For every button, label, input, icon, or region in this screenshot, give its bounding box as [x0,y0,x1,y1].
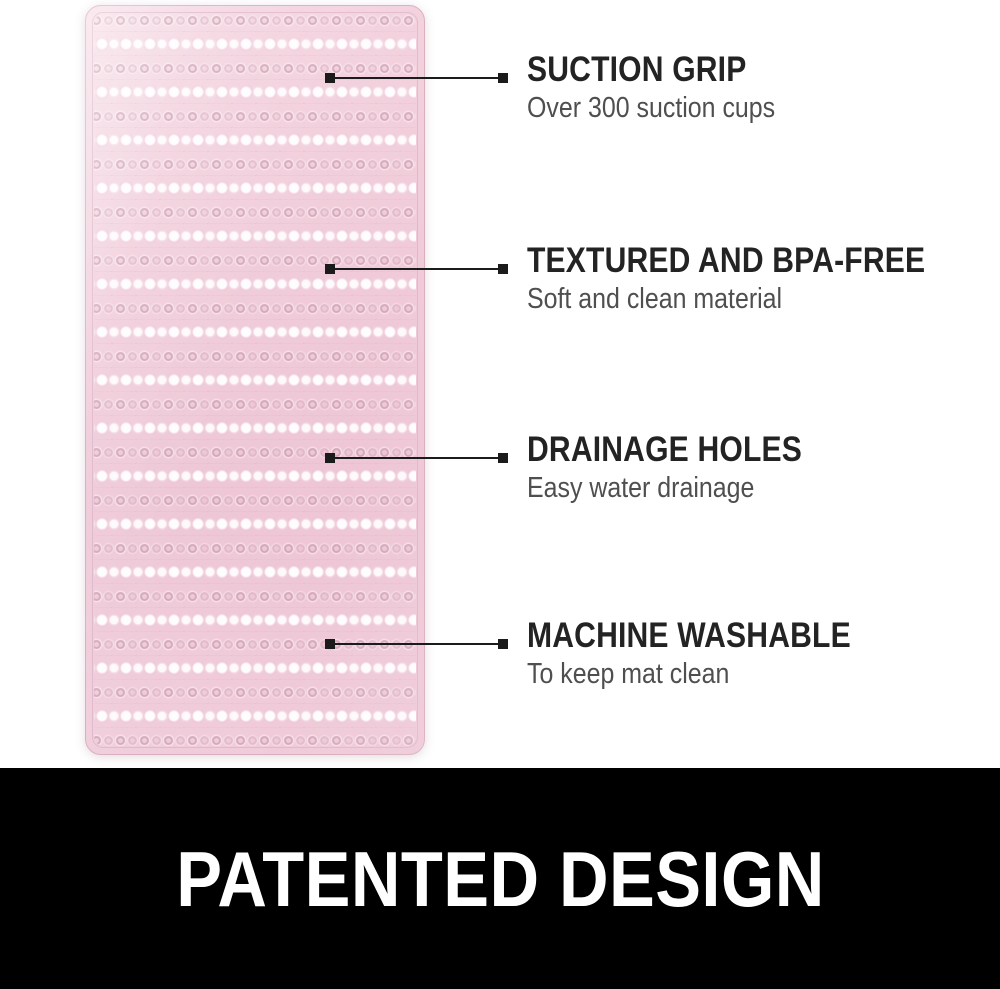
callout-headline: TEXTURED AND BPA-FREE [527,243,925,279]
leader-endpoint-text [498,73,508,83]
callout-headline: MACHINE WASHABLE [527,618,851,654]
callout-suction-grip: SUCTION GRIP Over 300 suction cups [527,52,816,124]
leader-endpoint-text [498,639,508,649]
drainage-holes-column-b [94,14,416,746]
callout-headline: DRAINAGE HOLES [527,432,802,468]
callout-subline: Over 300 suction cups [527,93,775,124]
callout-headline: SUCTION GRIP [527,52,775,88]
leader-endpoint-text [498,264,508,274]
callout-subline: To keep mat clean [527,659,851,690]
mat-texture-field [94,14,416,746]
leader-endpoint-text [498,453,508,463]
callout-machine-washable: MACHINE WASHABLE To keep mat clean [527,618,904,690]
bottom-banner: PATENTED DESIGN [0,768,1000,989]
leader-line-textured-bpa-free [325,264,508,274]
leader-bar [331,643,502,645]
banner-title: PATENTED DESIGN [176,840,825,918]
leader-line-drainage-holes [325,453,508,463]
leader-bar [331,77,502,79]
infographic-page: SUCTION GRIP Over 300 suction cups TEXTU… [0,0,1000,989]
leader-line-machine-washable [325,639,508,649]
callout-subline: Soft and clean material [527,284,925,315]
leader-bar [331,457,502,459]
callout-subline: Easy water drainage [527,473,802,504]
leader-bar [331,268,502,270]
callout-drainage-holes: DRAINAGE HOLES Easy water drainage [527,432,847,504]
callout-textured-bpa-free: TEXTURED AND BPA-FREE Soft and clean mat… [527,243,990,315]
leader-line-suction-grip [325,73,508,83]
